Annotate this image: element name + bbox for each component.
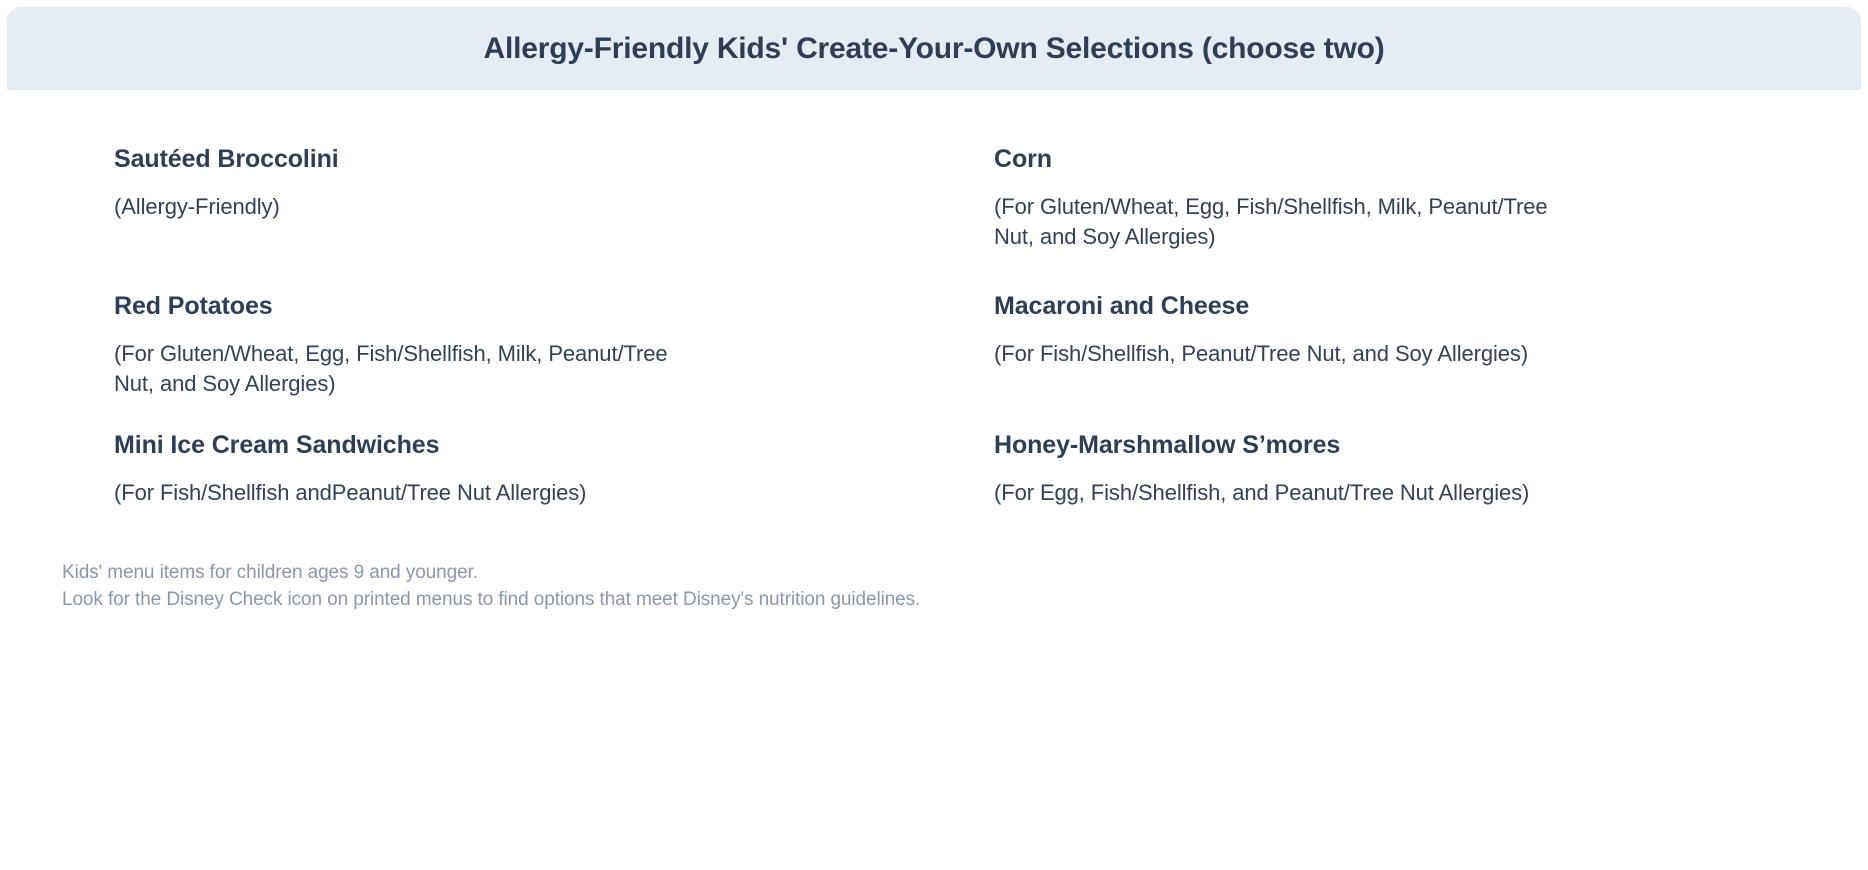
menu-item-name: Corn [994, 144, 1584, 174]
menu-item-description: (For Egg, Fish/Shellfish, and Peanut/Tre… [994, 478, 1584, 508]
footnote-disney-check: Look for the Disney Check icon on printe… [62, 586, 1868, 614]
menu-item-description: (For Fish/Shellfish andPeanut/Tree Nut A… [114, 478, 704, 508]
menu-footnotes: Kids' menu items for children ages 9 and… [0, 547, 1868, 614]
allergy-friendly-kids-menu-card: Allergy-Friendly Kids' Create-Your-Own S… [0, 0, 1868, 870]
menu-item-sauteed-broccolini: Sautéed Broccolini (Allergy-Friendly) [114, 144, 704, 252]
menu-body: Sautéed Broccolini (Allergy-Friendly) Co… [0, 90, 1868, 870]
menu-item-description: (Allergy-Friendly) [114, 192, 704, 222]
menu-section-title: Allergy-Friendly Kids' Create-Your-Own S… [484, 32, 1385, 66]
menu-section-header: Allergy-Friendly Kids' Create-Your-Own S… [7, 7, 1861, 90]
menu-item-name: Macaroni and Cheese [994, 291, 1584, 321]
menu-item-name: Honey-Marshmallow S’mores [994, 430, 1584, 460]
menu-item-name: Red Potatoes [114, 291, 704, 321]
menu-item-name: Sautéed Broccolini [114, 144, 704, 174]
menu-item-description: (For Gluten/Wheat, Egg, Fish/Shellfish, … [114, 339, 704, 399]
menu-item-corn: Corn (For Gluten/Wheat, Egg, Fish/Shellf… [994, 144, 1584, 252]
menu-item-mini-ice-cream-sandwiches: Mini Ice Cream Sandwiches (For Fish/Shel… [114, 430, 704, 508]
menu-item-red-potatoes: Red Potatoes (For Gluten/Wheat, Egg, Fis… [114, 291, 704, 399]
menu-item-description: (For Fish/Shellfish, Peanut/Tree Nut, an… [994, 339, 1584, 369]
menu-items-grid: Sautéed Broccolini (Allergy-Friendly) Co… [0, 144, 1868, 547]
footnote-age-restriction: Kids' menu items for children ages 9 and… [62, 559, 1868, 587]
menu-item-name: Mini Ice Cream Sandwiches [114, 430, 704, 460]
menu-item-macaroni-and-cheese: Macaroni and Cheese (For Fish/Shellfish,… [994, 291, 1584, 399]
menu-item-description: (For Gluten/Wheat, Egg, Fish/Shellfish, … [994, 192, 1584, 252]
menu-item-honey-marshmallow-smores: Honey-Marshmallow S’mores (For Egg, Fish… [994, 430, 1584, 508]
